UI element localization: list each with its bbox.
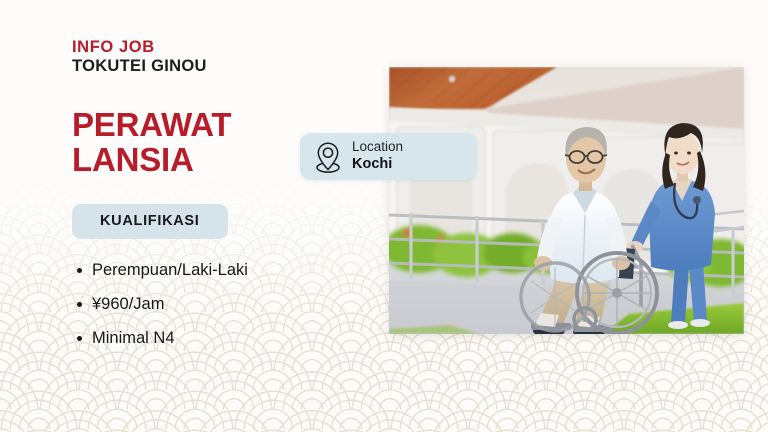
list-item: ¥960/Jam xyxy=(92,295,332,313)
job-poster: INFO JOB TOKUTEI GINOU PERAWAT LANSIA KU… xyxy=(0,0,768,432)
page-title: PERAWAT LANSIA xyxy=(72,107,332,178)
qualification-badge: KUALIFIKASI xyxy=(72,204,228,239)
map-pin-icon xyxy=(313,140,343,174)
location-badge: Location Kochi xyxy=(300,133,477,180)
list-item: Minimal N4 xyxy=(92,329,332,347)
job-photo xyxy=(389,67,744,334)
location-label: Location xyxy=(352,139,403,155)
eyebrow-tokutei-ginou: TOKUTEI GINOU xyxy=(72,57,332,76)
photo-illustration xyxy=(389,67,744,334)
poster-text-column: INFO JOB TOKUTEI GINOU PERAWAT LANSIA KU… xyxy=(72,38,332,363)
qualification-list: Perempuan/Laki-Laki ¥960/Jam Minimal N4 xyxy=(72,261,332,347)
location-value: Kochi xyxy=(352,156,403,173)
eyebrow-info-job: INFO JOB xyxy=(72,38,332,57)
list-item: Perempuan/Laki-Laki xyxy=(92,261,332,279)
headline-line-1: PERAWAT xyxy=(72,107,332,142)
headline-line-2: LANSIA xyxy=(72,142,332,177)
location-text-group: Location Kochi xyxy=(352,139,403,173)
